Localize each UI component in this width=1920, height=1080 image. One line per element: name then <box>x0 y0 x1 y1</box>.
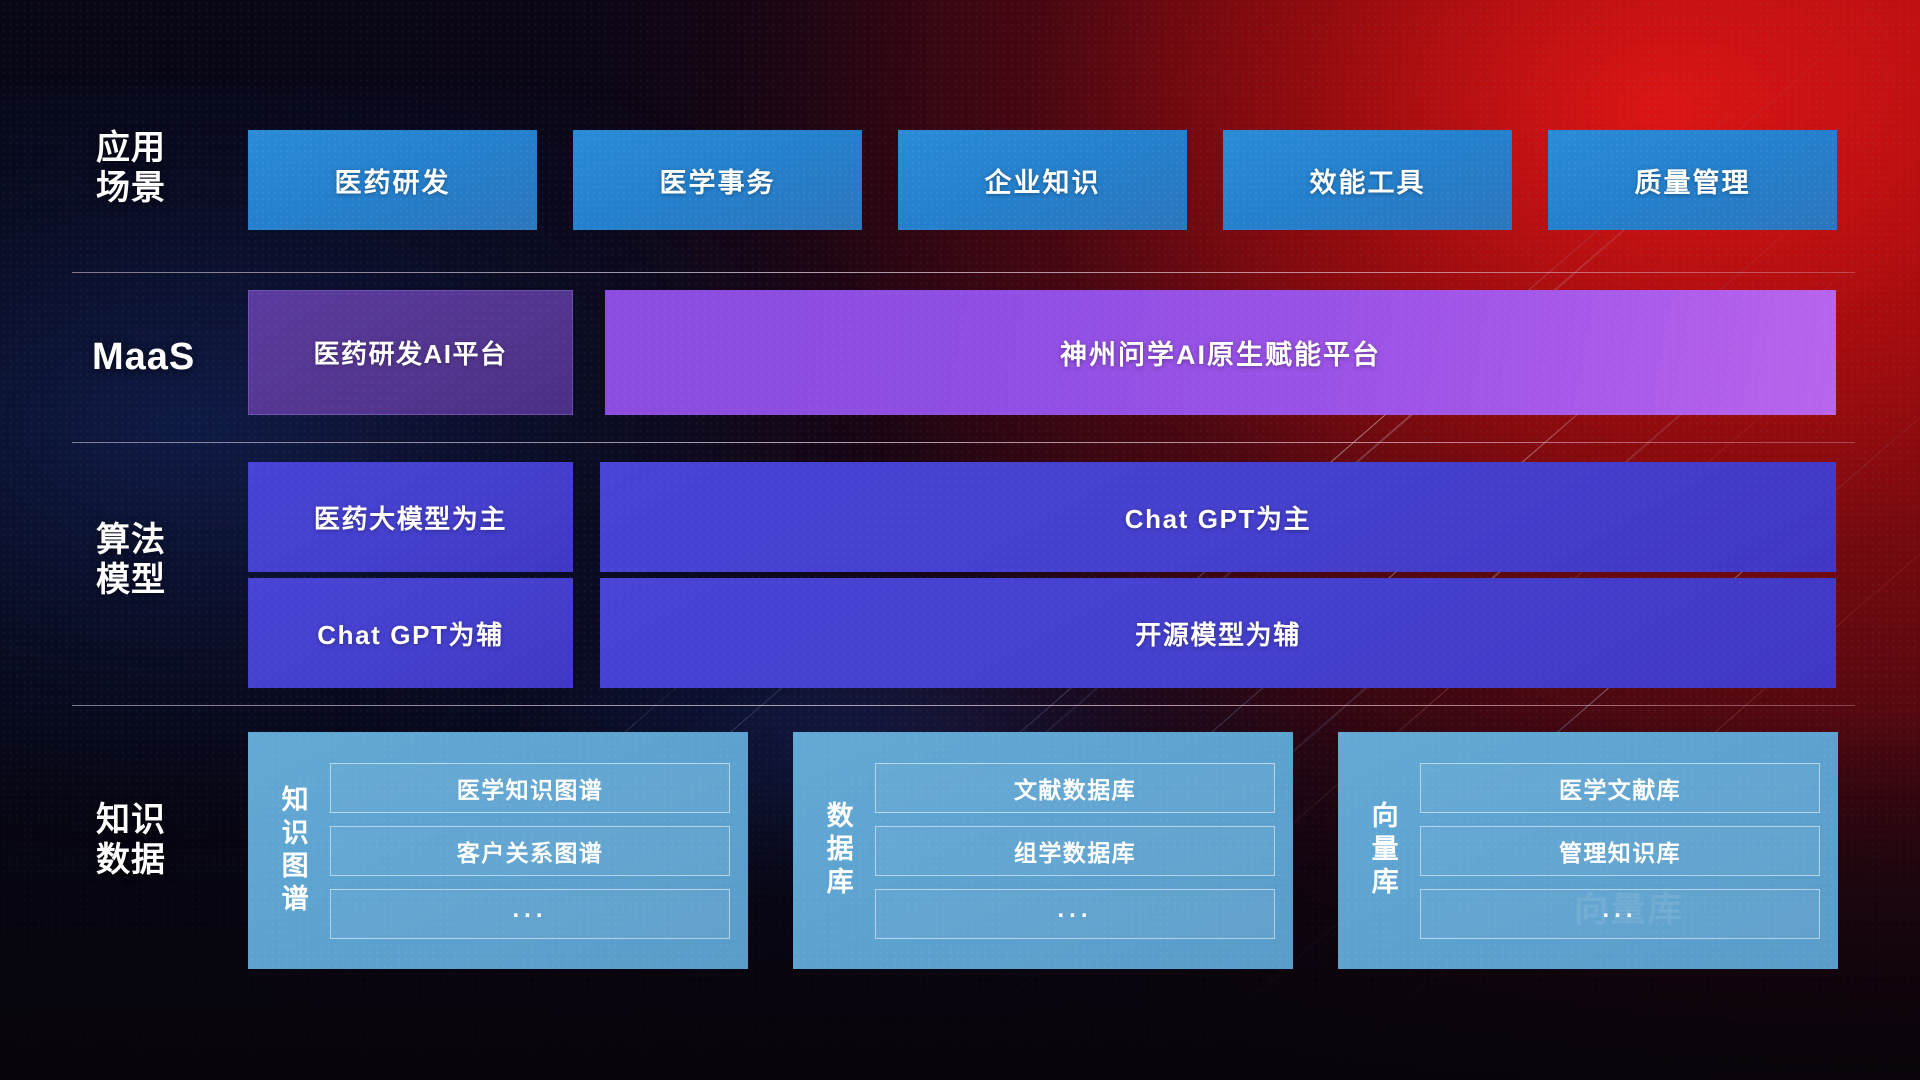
knowledge-item-list: 文献数据库 组学数据库 ... <box>867 763 1275 939</box>
divider-application-maas <box>72 272 1855 273</box>
app-card-label: 医药研发 <box>335 161 451 200</box>
maas-card-label: 医药研发AI平台 <box>313 334 507 371</box>
knowledge-item-list: 医学文献库 管理知识库 ... <box>1412 763 1820 939</box>
knowledge-item[interactable]: 文献数据库 <box>875 763 1275 813</box>
knowledge-item-label: ... <box>1057 896 1092 924</box>
knowledge-item-label: 组学数据库 <box>1014 834 1136 868</box>
knowledge-item[interactable]: 医学知识图谱 <box>330 763 730 813</box>
knowledge-item-more[interactable]: ... <box>875 889 1275 939</box>
algo-card-opensource-secondary[interactable]: 开源模型为辅 <box>600 578 1836 688</box>
algo-card-medical-llm-primary[interactable]: 医药大模型为主 <box>248 462 573 572</box>
algo-card-chatgpt-secondary[interactable]: Chat GPT为辅 <box>248 578 573 688</box>
knowledge-item-label: 医学文献库 <box>1559 771 1681 805</box>
knowledge-item[interactable]: 组学数据库 <box>875 826 1275 876</box>
app-card-enterprise-knowledge[interactable]: 企业知识 <box>898 130 1187 230</box>
algo-card-chatgpt-primary[interactable]: Chat GPT为主 <box>600 462 1836 572</box>
knowledge-item[interactable]: 医学文献库 <box>1420 763 1820 813</box>
knowledge-item[interactable]: 客户关系图谱 <box>330 826 730 876</box>
app-card-label: 效能工具 <box>1310 161 1426 200</box>
knowledge-group-vertical-label: 向量库 <box>1352 801 1412 900</box>
maas-card-label: 神州问学AI原生赋能平台 <box>1060 333 1381 372</box>
algo-card-label: Chat GPT为辅 <box>317 615 503 652</box>
divider-maas-algorithm <box>72 442 1855 443</box>
app-card-quality-management[interactable]: 质量管理 <box>1548 130 1837 230</box>
knowledge-item-more[interactable]: ... <box>1420 889 1820 939</box>
knowledge-item-label: 文献数据库 <box>1014 771 1136 805</box>
app-card-label: 医学事务 <box>660 161 776 200</box>
knowledge-item-list: 医学知识图谱 客户关系图谱 ... <box>322 763 730 939</box>
knowledge-group-vertical-label: 数据库 <box>807 801 867 900</box>
app-card-label: 企业知识 <box>985 161 1101 200</box>
row-label-application: 应用 场景 <box>96 128 246 208</box>
knowledge-item-label: ... <box>512 896 547 924</box>
maas-card-drug-rd-ai-platform[interactable]: 医药研发AI平台 <box>248 290 573 415</box>
app-card-efficiency-tools[interactable]: 效能工具 <box>1223 130 1512 230</box>
knowledge-item-label: 管理知识库 <box>1559 834 1681 868</box>
knowledge-group-graph[interactable]: 知识图谱 医学知识图谱 客户关系图谱 ... <box>248 732 748 969</box>
algo-card-label: Chat GPT为主 <box>1125 499 1311 536</box>
architecture-diagram: 应用 场景 医药研发 医学事务 企业知识 效能工具 质量管理 MaaS 医药研发… <box>0 0 1920 1080</box>
row-label-knowledge: 知识 数据 <box>96 800 246 880</box>
knowledge-item-label: 医学知识图谱 <box>457 771 603 805</box>
maas-card-shenzhou-wenxue-platform[interactable]: 神州问学AI原生赋能平台 <box>605 290 1836 415</box>
app-card-drug-rd[interactable]: 医药研发 <box>248 130 537 230</box>
knowledge-group-vector-store[interactable]: 向量库 向量库 医学文献库 管理知识库 ... <box>1338 732 1838 969</box>
row-label-algorithm: 算法 模型 <box>96 520 246 600</box>
knowledge-item[interactable]: 管理知识库 <box>1420 826 1820 876</box>
app-card-label: 质量管理 <box>1635 161 1751 200</box>
knowledge-group-database[interactable]: 数据库 文献数据库 组学数据库 ... <box>793 732 1293 969</box>
divider-algorithm-knowledge <box>72 705 1855 706</box>
knowledge-item-label: 客户关系图谱 <box>457 834 603 868</box>
knowledge-item-label: ... <box>1602 896 1637 924</box>
algo-card-label: 医药大模型为主 <box>314 499 507 536</box>
row-label-maas: MaaS <box>92 335 272 380</box>
app-card-medical-affairs[interactable]: 医学事务 <box>573 130 862 230</box>
knowledge-item-more[interactable]: ... <box>330 889 730 939</box>
knowledge-group-vertical-label: 知识图谱 <box>262 785 322 917</box>
algo-card-label: 开源模型为辅 <box>1135 615 1301 652</box>
